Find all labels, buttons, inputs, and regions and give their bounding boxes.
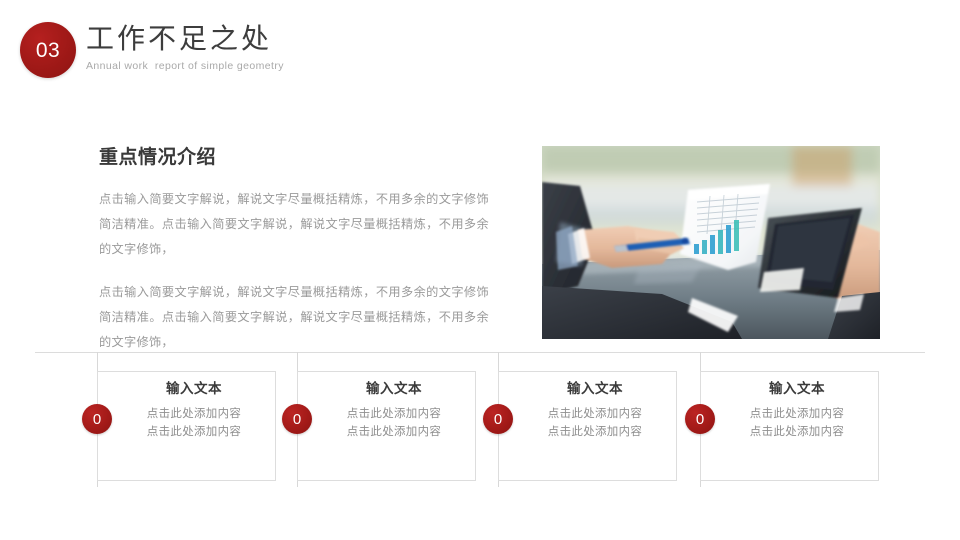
card-text-block: 输入文本 点击此处添加内容 点击此处添加内容	[113, 379, 275, 441]
card-line: 点击此处添加内容	[313, 405, 475, 423]
card-line: 点击此处添加内容	[716, 423, 878, 441]
card-text-block: 输入文本 点击此处添加内容 点击此处添加内容	[313, 379, 475, 441]
section-number-label: 03	[36, 40, 60, 61]
card-title: 输入文本	[113, 379, 275, 399]
info-card[interactable]: 0 输入文本 点击此处添加内容 点击此处添加内容	[77, 352, 277, 492]
card-badge-number: 0	[494, 412, 502, 427]
card-line: 点击此处添加内容	[716, 405, 878, 423]
body-paragraph: 点击输入简要文字解说，解说文字尽量概括精炼，不用多余的文字修饰简洁精准。点击输入…	[99, 187, 489, 262]
business-meeting-photo	[542, 146, 880, 339]
card-badge: 0	[483, 404, 513, 434]
card-line: 点击此处添加内容	[113, 423, 275, 441]
card-badge: 0	[282, 404, 312, 434]
body-paragraph: 点击输入简要文字解说，解说文字尽量概括精炼，不用多余的文字修饰简洁精准。点击输入…	[99, 280, 489, 355]
slide-header: 03 工作不足之处 Annual work report of simple g…	[0, 0, 960, 100]
header-text-block: 工作不足之处 Annual work report of simple geom…	[86, 22, 284, 74]
card-title: 输入文本	[313, 379, 475, 399]
card-badge-number: 0	[293, 412, 301, 427]
card-title: 输入文本	[716, 379, 878, 399]
info-card[interactable]: 0 输入文本 点击此处添加内容 点击此处添加内容	[277, 352, 477, 492]
page-title: 工作不足之处	[86, 22, 284, 56]
page-subtitle: Annual work report of simple geometry	[86, 58, 284, 74]
section-number-badge: 03	[20, 22, 76, 78]
photo-graphic	[542, 146, 880, 339]
card-text-block: 输入文本 点击此处添加内容 点击此处添加内容	[716, 379, 878, 441]
card-line: 点击此处添加内容	[514, 423, 676, 441]
card-badge: 0	[82, 404, 112, 434]
card-badge: 0	[685, 404, 715, 434]
card-line: 点击此处添加内容	[514, 405, 676, 423]
content-text-block: 重点情况介绍 点击输入简要文字解说，解说文字尽量概括精炼，不用多余的文字修饰简洁…	[99, 145, 489, 373]
content-heading: 重点情况介绍	[99, 145, 489, 171]
card-text-block: 输入文本 点击此处添加内容 点击此处添加内容	[514, 379, 676, 441]
info-card[interactable]: 0 输入文本 点击此处添加内容 点击此处添加内容	[680, 352, 880, 492]
card-title: 输入文本	[514, 379, 676, 399]
card-line: 点击此处添加内容	[313, 423, 475, 441]
card-line: 点击此处添加内容	[113, 405, 275, 423]
card-badge-number: 0	[696, 412, 704, 427]
info-card[interactable]: 0 输入文本 点击此处添加内容 点击此处添加内容	[478, 352, 678, 492]
cards-row: 0 输入文本 点击此处添加内容 点击此处添加内容 0 输入文本 点击此处添加内容…	[0, 352, 960, 492]
card-badge-number: 0	[93, 412, 101, 427]
